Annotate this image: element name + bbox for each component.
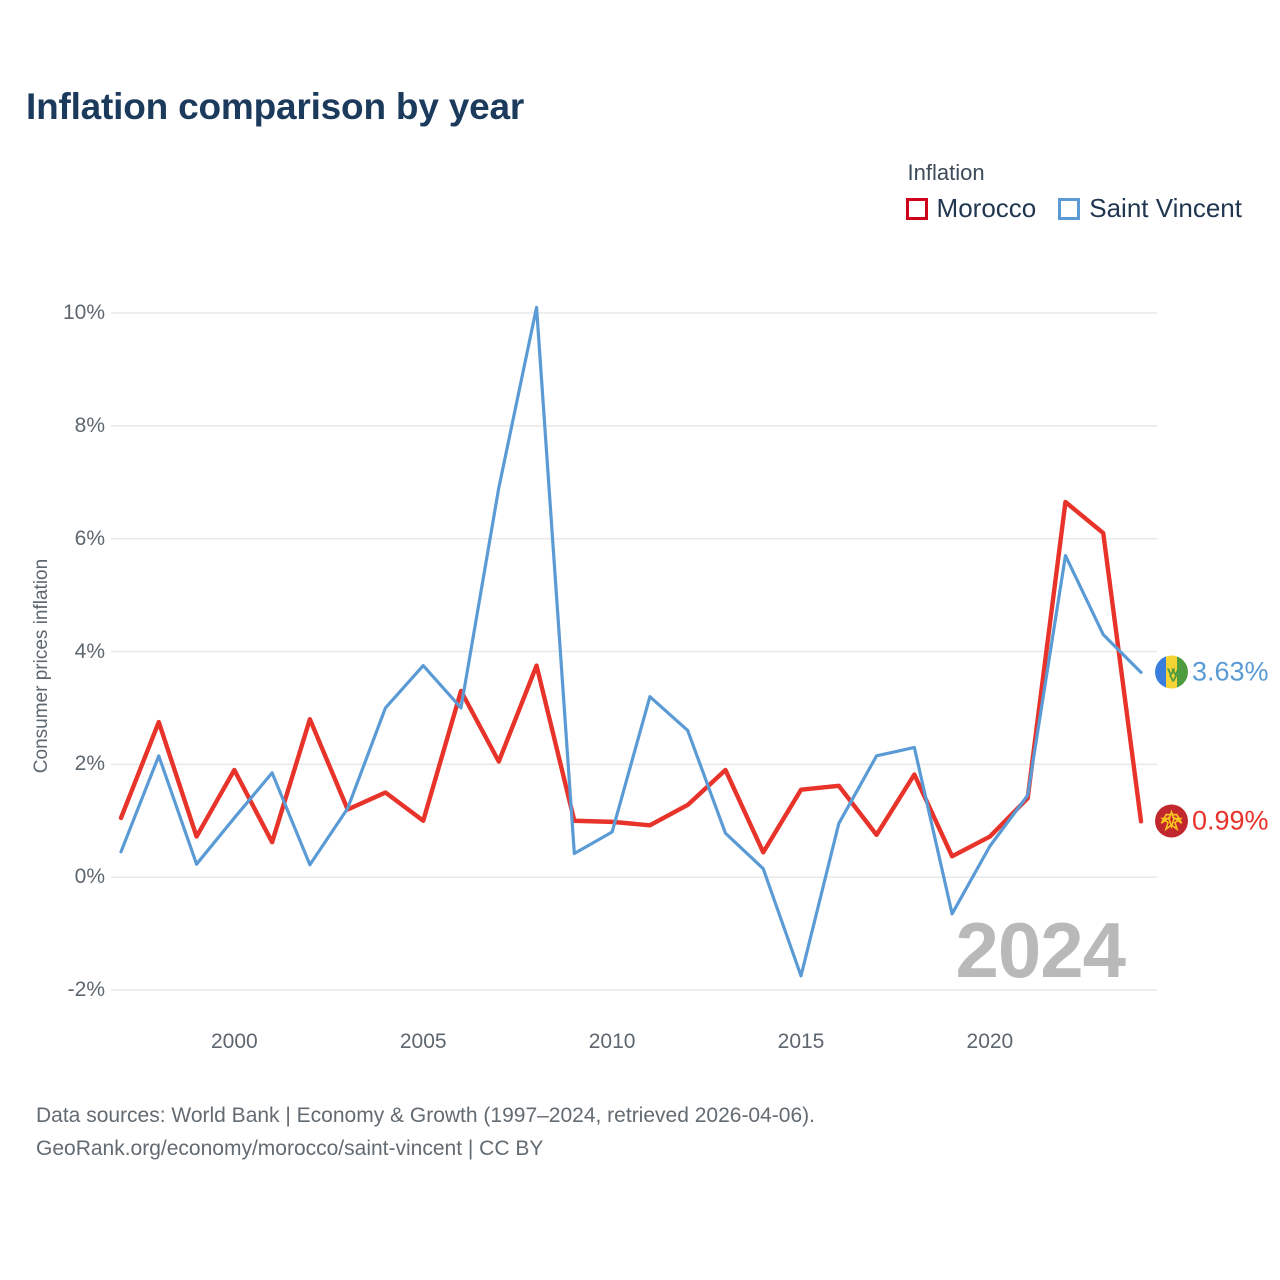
- series-line-saint-vincent: [121, 307, 1141, 976]
- footer: Data sources: World Bank | Economy & Gro…: [36, 1100, 815, 1165]
- chart-page: Inflation comparison by year Inflation M…: [0, 0, 1280, 1280]
- gridlines: [111, 313, 1157, 990]
- plot-area: Consumer prices inflation -2%0%2%4%6%8%1…: [0, 0, 1280, 1280]
- end-label-value-saint-vincent: 3.63%: [1192, 657, 1269, 688]
- footer-line-1: Data sources: World Bank | Economy & Gro…: [36, 1100, 815, 1133]
- series-lines: [121, 307, 1141, 976]
- end-label-saint-vincent: 3.63%: [1155, 656, 1269, 689]
- morocco-flag-icon: [1155, 805, 1188, 838]
- saint-vincent-flag-icon: [1155, 656, 1188, 689]
- end-label-morocco: 0.99%: [1155, 805, 1269, 838]
- year-watermark: 2024: [955, 905, 1125, 996]
- series-line-morocco: [121, 502, 1141, 856]
- footer-line-2: GeoRank.org/economy/morocco/saint-vincen…: [36, 1133, 815, 1166]
- end-label-value-morocco: 0.99%: [1192, 806, 1269, 837]
- chart-canvas: [0, 0, 1280, 1280]
